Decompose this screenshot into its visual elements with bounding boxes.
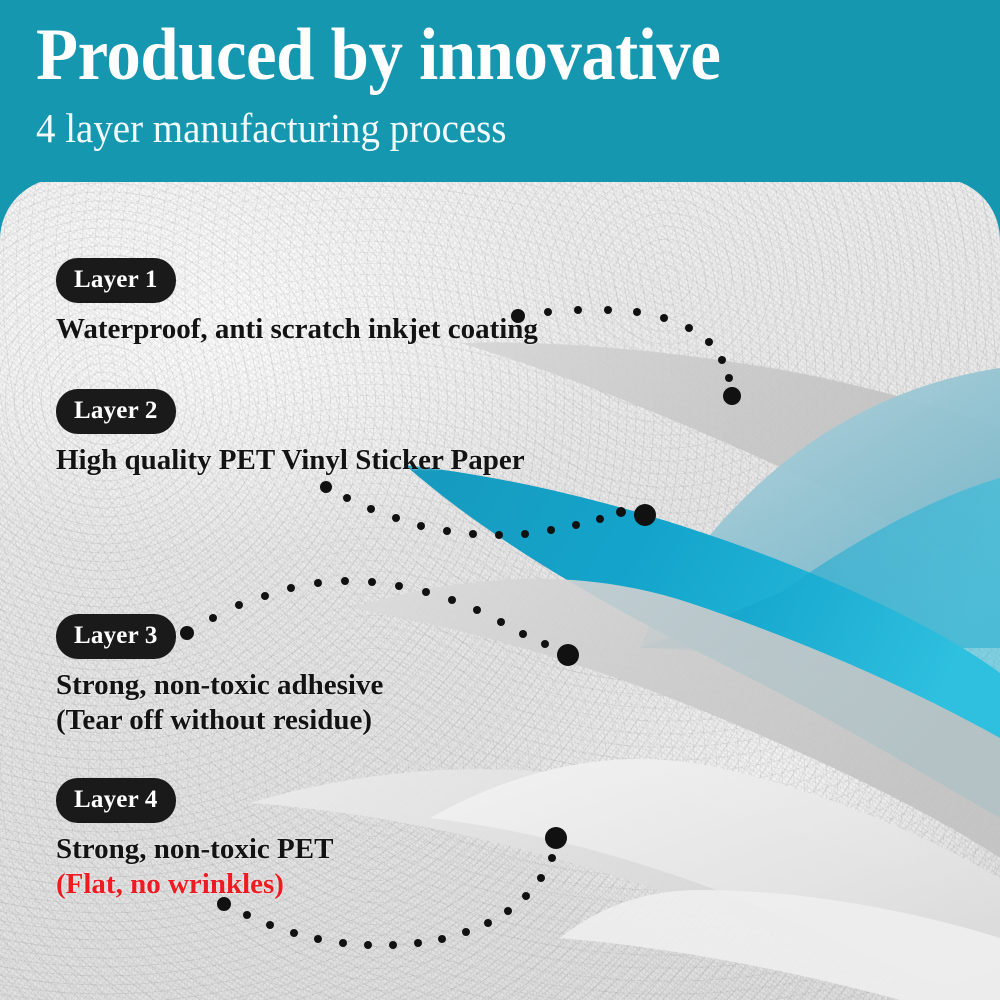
layer-block-3: Layer 3 Strong, non-toxic adhesive (Tear… [56, 614, 383, 738]
layer-badge-3: Layer 3 [56, 614, 176, 659]
page-title: Produced by innovative [36, 14, 720, 96]
layer-description-1-line-1: Waterproof, anti scratch inkjet coating [56, 312, 538, 347]
page-subtitle: 4 layer manufacturing process [36, 104, 506, 152]
layer-description-4-line-1: Strong, non-toxic PET [56, 832, 333, 867]
layer-block-2: Layer 2 High quality PET Vinyl Sticker P… [56, 389, 525, 478]
layer-description-3-line-1: Strong, non-toxic adhesive [56, 668, 383, 703]
layer-badge-4: Layer 4 [56, 778, 176, 823]
layer-description-3-line-2: (Tear off without residue) [56, 703, 383, 738]
layer-badge-1: Layer 1 [56, 258, 176, 303]
layer-badge-2: Layer 2 [56, 389, 176, 434]
infographic-root: Produced by innovative 4 layer manufactu… [0, 0, 1000, 1000]
layer-block-1: Layer 1 Waterproof, anti scratch inkjet … [56, 258, 538, 347]
layer-block-4: Layer 4 Strong, non-toxic PET (Flat, no … [56, 778, 333, 902]
layer-description-2-line-1: High quality PET Vinyl Sticker Paper [56, 443, 525, 478]
header-banner: Produced by innovative 4 layer manufactu… [0, 0, 1000, 182]
layer-description-4-line-2: (Flat, no wrinkles) [56, 867, 333, 902]
